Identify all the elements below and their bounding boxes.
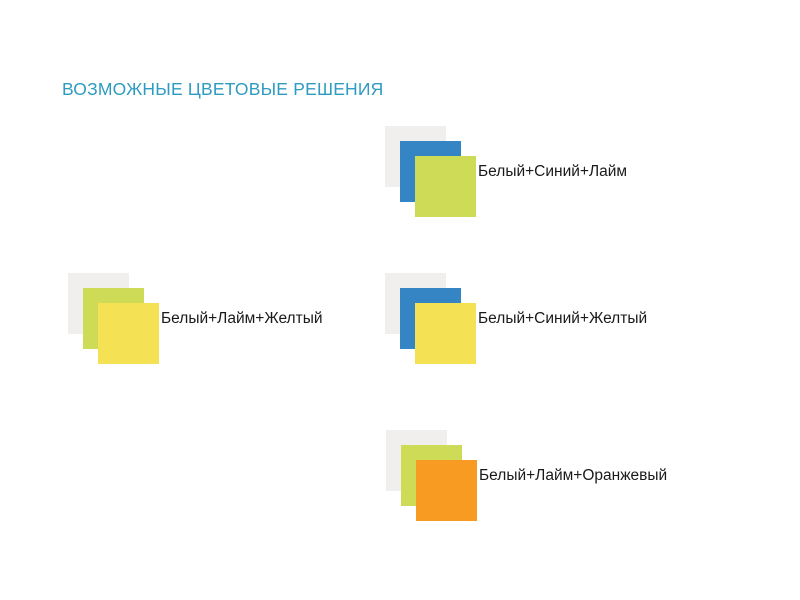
swatch-stack (385, 273, 477, 365)
swatch-square-front (98, 303, 159, 364)
page-title: ВОЗМОЖНЫЕ ЦВЕТОВЫЕ РЕШЕНИЯ (62, 79, 384, 100)
swatch-square-front (415, 303, 476, 364)
color-combo-label: Белый+Синий+Желтый (478, 273, 647, 365)
swatch-square-front (415, 156, 476, 217)
color-combo-label: Белый+Синий+Лайм (478, 126, 627, 218)
swatch-stack (68, 273, 160, 365)
swatch-square-front (416, 460, 477, 521)
swatch-stack (386, 430, 478, 522)
color-combo-label: Белый+Лайм+Желтый (161, 273, 323, 365)
slide-canvas: ВОЗМОЖНЫЕ ЦВЕТОВЫЕ РЕШЕНИЯ Белый+Синий+Л… (0, 0, 800, 600)
color-combo-label: Белый+Лайм+Оранжевый (479, 430, 667, 522)
swatch-stack (385, 126, 477, 218)
